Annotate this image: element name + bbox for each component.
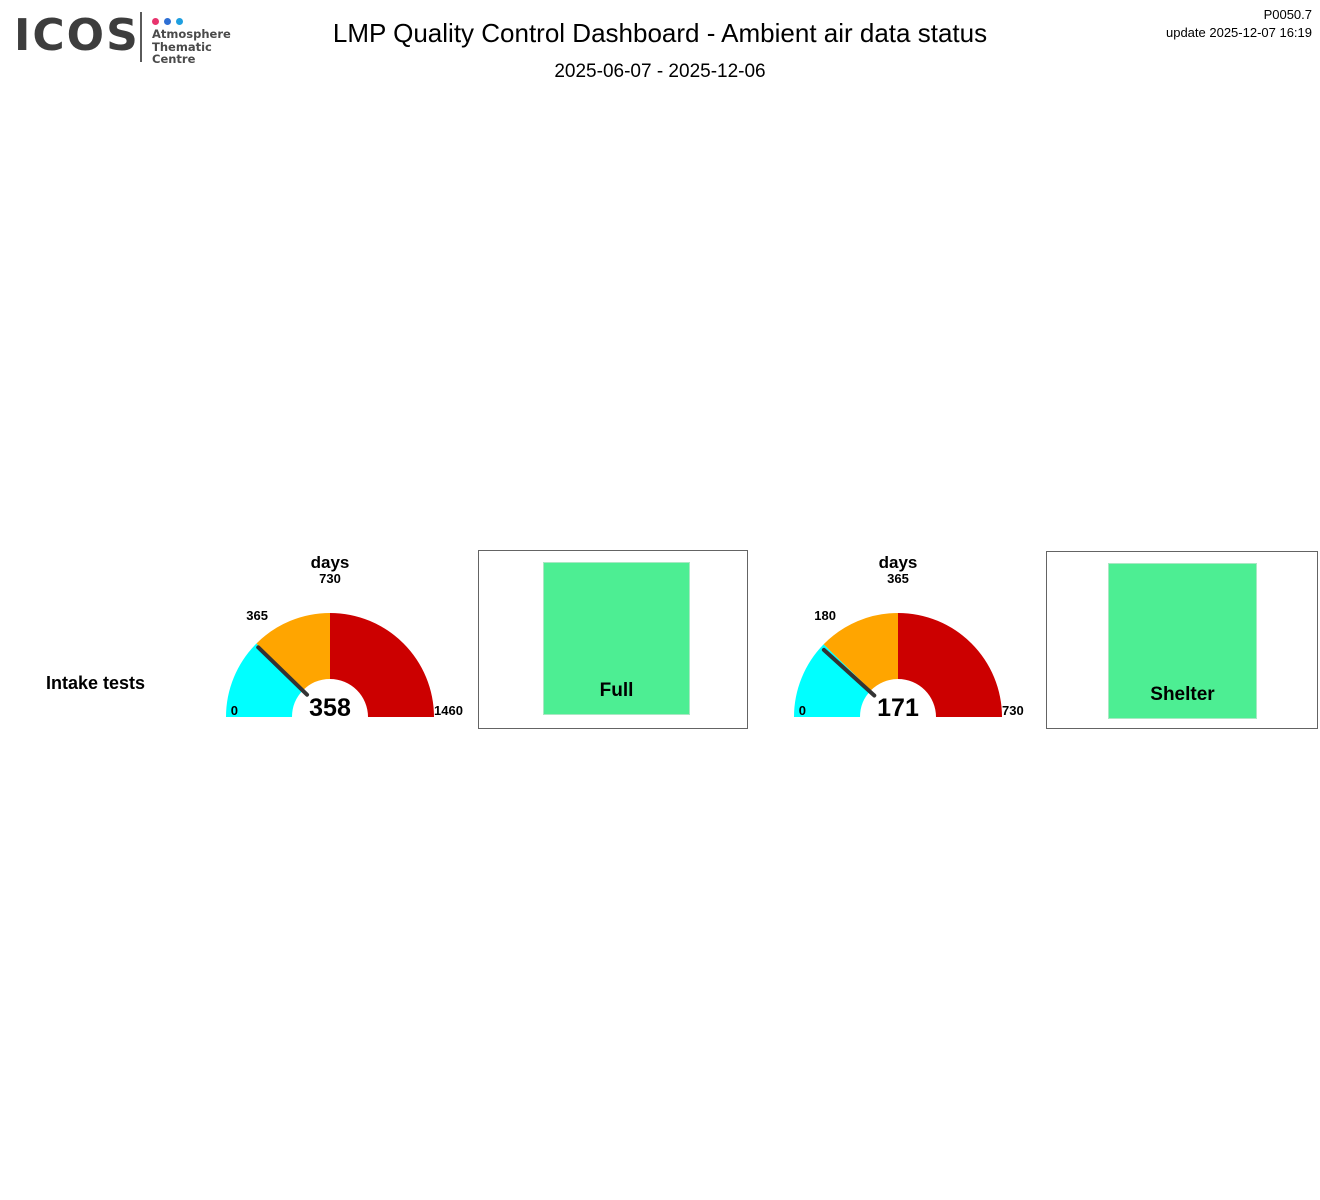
version-label: P0050.7 — [1166, 6, 1312, 24]
full-gauge-title: days — [270, 553, 390, 573]
shelter-gauge-tick-0: 0 — [780, 703, 806, 718]
header-meta: P0050.7 update 2025-12-07 16:19 — [1166, 6, 1312, 42]
full-status-label: Full — [544, 680, 689, 702]
shelter-gauge-tick-730: 730 — [1002, 703, 1042, 718]
shelter-status-box: Shelter — [1108, 563, 1257, 719]
shelter-gauge: days 365 180 0 730 171 — [790, 548, 1022, 733]
shelter-gauge-tick-180: 180 — [796, 608, 836, 623]
full-gauge-value: 358 — [270, 694, 390, 722]
shelter-gauge-value: 171 — [838, 694, 958, 722]
shelter-status-label: Shelter — [1109, 684, 1256, 706]
full-gauge-tick-0: 0 — [212, 703, 238, 718]
date-range: 2025-06-07 - 2025-12-06 — [0, 60, 1320, 84]
row-label-intake-tests: Intake tests — [46, 672, 145, 694]
page-title: LMP Quality Control Dashboard - Ambient … — [0, 18, 1320, 48]
full-status-panel: Full — [478, 550, 748, 729]
shelter-status-panel: Shelter — [1046, 551, 1318, 729]
full-gauge-tick-730: 730 — [300, 571, 360, 586]
shelter-gauge-title: days — [838, 553, 958, 573]
dashboard-header: ICOS Atmosphere Thematic Centre LMP Qual… — [0, 0, 1320, 100]
full-gauge: days 730 365 0 1460 358 — [222, 548, 454, 733]
full-gauge-tick-1460: 1460 — [434, 703, 474, 718]
update-timestamp: update 2025-12-07 16:19 — [1166, 24, 1312, 42]
full-gauge-tick-365: 365 — [228, 608, 268, 623]
full-status-box: Full — [543, 562, 690, 715]
shelter-gauge-tick-365: 365 — [868, 571, 928, 586]
